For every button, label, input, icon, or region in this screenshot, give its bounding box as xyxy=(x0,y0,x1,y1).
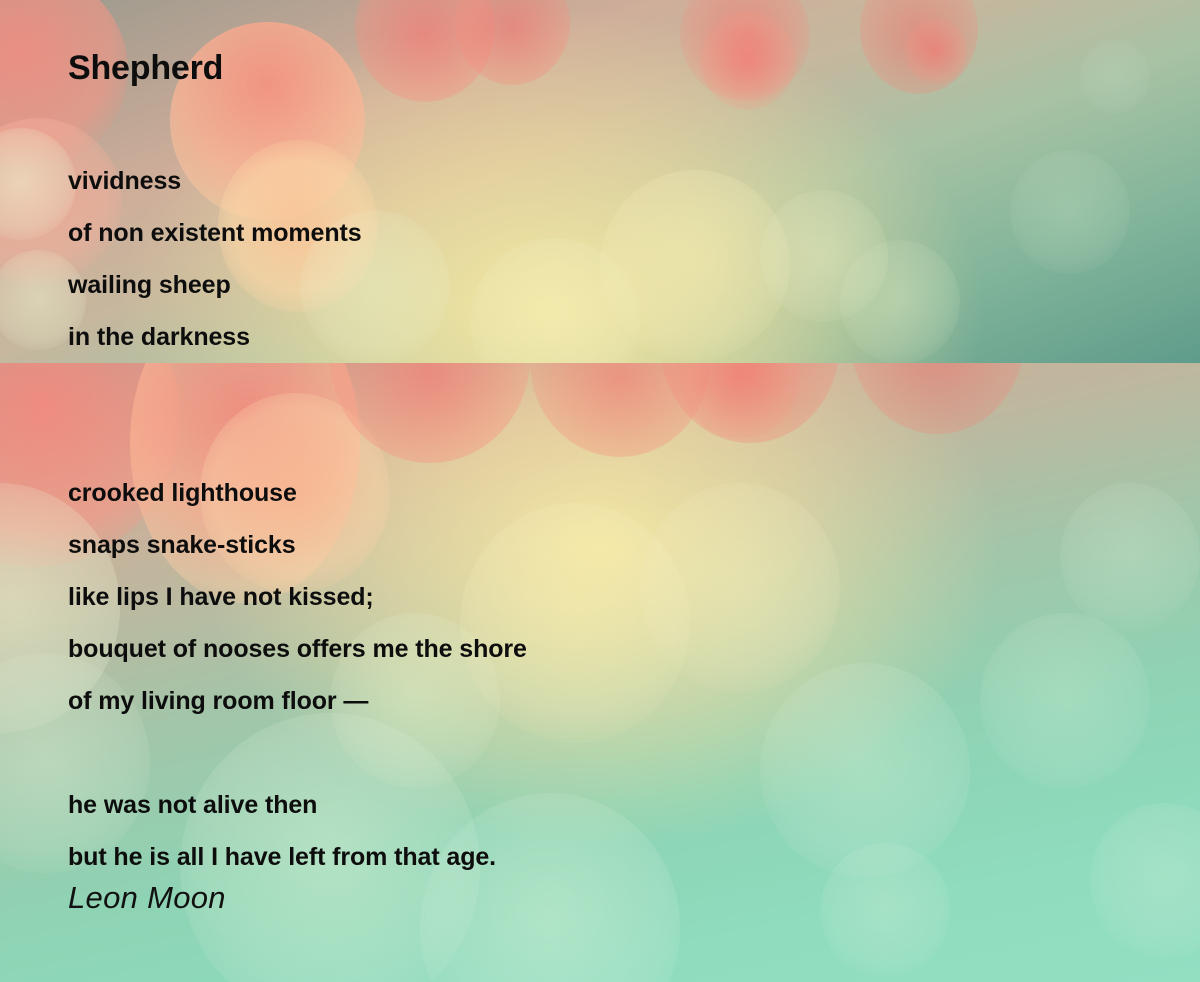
poem-line: like lips I have not kissed; xyxy=(68,571,1068,623)
page-title: Shepherd xyxy=(68,50,223,87)
poem-line: snaps snake-sticks xyxy=(68,519,1068,571)
poem-line: but he is all I have left from that age. xyxy=(68,831,1068,883)
poem-text-layer: Shepherd vividness of non existent momen… xyxy=(0,0,1200,982)
poem-line: in the darkness xyxy=(68,311,1068,363)
poem-line-blank xyxy=(68,727,1068,779)
poem-line: crooked lighthouse xyxy=(68,467,1068,519)
poem-author: Leon Moon xyxy=(68,880,226,916)
poem-line-blank xyxy=(68,415,1068,467)
poem-line: vividness xyxy=(68,155,1068,207)
poem-line: bouquet of nooses offers me the shore xyxy=(68,623,1068,675)
poem-body: vividness of non existent moments wailin… xyxy=(68,155,1068,883)
poem-line: wailing sheep xyxy=(68,259,1068,311)
poem-graphic: Shepherd vividness of non existent momen… xyxy=(0,0,1200,982)
poem-line: of my living room floor — xyxy=(68,675,1068,727)
poem-line: he was not alive then xyxy=(68,779,1068,831)
poem-line-blank xyxy=(68,363,1068,415)
poem-line: of non existent moments xyxy=(68,207,1068,259)
